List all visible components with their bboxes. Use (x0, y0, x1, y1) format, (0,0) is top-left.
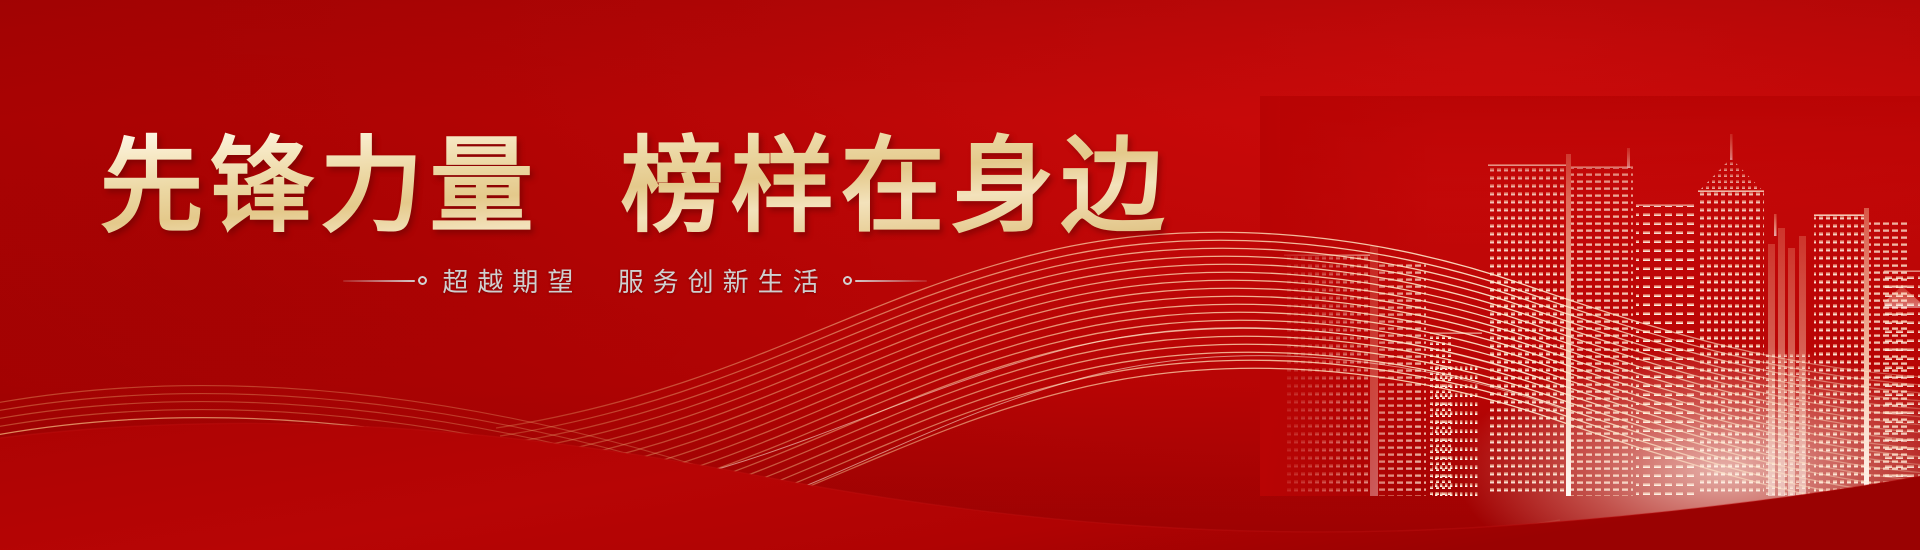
subtitle-part-1: 超越期望 (442, 267, 582, 297)
right-rule-dot-icon (843, 276, 852, 285)
banner-text-block: 先锋力量 榜样在身边 超越期望 服务创新生活 (0, 132, 1270, 299)
promo-banner: 先锋力量 榜样在身边 超越期望 服务创新生活 (0, 0, 1920, 550)
left-decorative-rule (343, 276, 430, 285)
page-title: 先锋力量 榜样在身边 (0, 132, 1270, 242)
right-decorative-rule (840, 276, 927, 285)
cityscape-illustration (1280, 96, 1920, 496)
headline-part-2: 榜样在身边 (620, 129, 1170, 245)
right-rule-bar (855, 280, 927, 282)
subtitle-part-2: 服务创新生活 (618, 267, 828, 297)
page-subtitle: 超越期望 服务创新生活 (442, 262, 827, 299)
subtitle-gap (582, 267, 617, 297)
subtitle-row: 超越期望 服务创新生活 (0, 262, 1270, 299)
headline-gap (540, 129, 621, 245)
left-rule-dot-icon (418, 276, 427, 285)
headline-part-1: 先锋力量 (100, 129, 540, 245)
left-rule-bar (343, 280, 415, 282)
